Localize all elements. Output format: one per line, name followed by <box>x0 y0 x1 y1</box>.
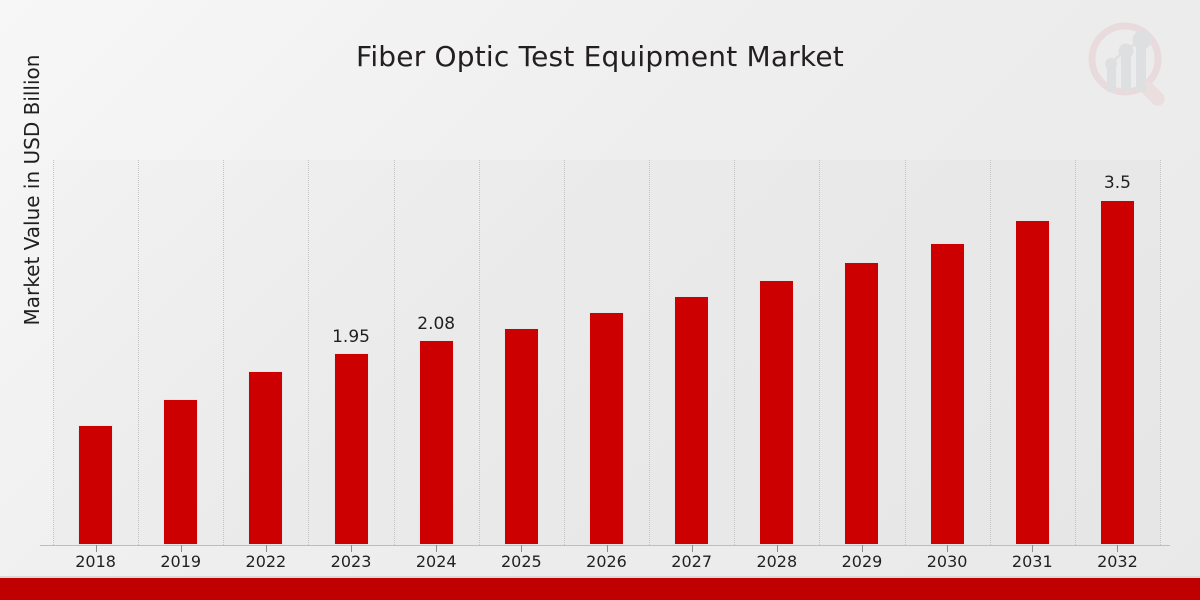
gridline <box>308 160 309 545</box>
x-tick-mark-2025 <box>521 545 522 552</box>
x-tick-mark-2018 <box>96 545 97 552</box>
x-tick-mark-2023 <box>351 545 352 552</box>
gridline <box>564 160 565 545</box>
x-tick-mark-2019 <box>181 545 182 552</box>
gridline <box>479 160 480 545</box>
bar-2031[interactable] <box>1015 220 1050 545</box>
gridline <box>819 160 820 545</box>
bar-2022[interactable] <box>248 371 283 545</box>
bar-2032[interactable] <box>1100 200 1135 546</box>
x-tick-label-2027: 2027 <box>647 552 737 571</box>
y-axis-title: Market Value in USD Billion <box>20 0 44 390</box>
gridline <box>53 160 54 545</box>
page-title: Fiber Optic Test Equipment Market <box>0 40 1200 73</box>
bar-2027[interactable] <box>674 296 709 545</box>
x-tick-mark-2026 <box>607 545 608 552</box>
x-tick-label-2026: 2026 <box>562 552 652 571</box>
bar-2026[interactable] <box>589 312 624 545</box>
bar-2028[interactable] <box>759 280 794 545</box>
x-tick-label-2028: 2028 <box>732 552 822 571</box>
x-tick-label-2025: 2025 <box>476 552 566 571</box>
x-tick-label-2024: 2024 <box>391 552 481 571</box>
x-tick-label-2019: 2019 <box>136 552 226 571</box>
plot-area <box>53 160 1160 545</box>
magnifier-bar-chart-logo-icon <box>1082 18 1178 110</box>
bar-2019[interactable] <box>163 399 198 545</box>
bar-2023[interactable] <box>334 353 369 546</box>
x-tick-label-2031: 2031 <box>987 552 1077 571</box>
gridline <box>394 160 395 545</box>
x-tick-label-2022: 2022 <box>221 552 311 571</box>
bar-value-label-2024: 2.08 <box>391 314 481 334</box>
gridline <box>138 160 139 545</box>
x-tick-label-2018: 2018 <box>51 552 141 571</box>
bar-2018[interactable] <box>78 425 113 545</box>
gridline <box>649 160 650 545</box>
x-tick-mark-2024 <box>436 545 437 552</box>
x-tick-mark-2028 <box>777 545 778 552</box>
bar-2024[interactable] <box>419 340 454 545</box>
gridline <box>990 160 991 545</box>
gridline <box>734 160 735 545</box>
bar-2029[interactable] <box>844 262 879 545</box>
x-tick-label-2029: 2029 <box>817 552 907 571</box>
x-tick-mark-2030 <box>947 545 948 552</box>
x-tick-mark-2029 <box>862 545 863 552</box>
x-axis-baseline <box>40 545 1170 546</box>
x-tick-mark-2031 <box>1032 545 1033 552</box>
gridline <box>1075 160 1076 545</box>
gridline <box>223 160 224 545</box>
x-tick-mark-2032 <box>1117 545 1118 552</box>
gridline <box>1160 160 1161 545</box>
x-tick-mark-2022 <box>266 545 267 552</box>
x-tick-label-2023: 2023 <box>306 552 396 571</box>
bar-2025[interactable] <box>504 328 539 545</box>
x-tick-mark-2027 <box>692 545 693 552</box>
x-tick-label-2032: 2032 <box>1072 552 1162 571</box>
bottom-accent-stripe <box>0 578 1200 600</box>
chart-page: Fiber Optic Test Equipment Market Market <box>0 0 1200 600</box>
bar-2030[interactable] <box>930 243 965 545</box>
bar-value-label-2023: 1.95 <box>306 327 396 347</box>
x-tick-label-2030: 2030 <box>902 552 992 571</box>
chart-header: Fiber Optic Test Equipment Market <box>0 0 1200 140</box>
bar-value-label-2032: 3.5 <box>1072 173 1162 193</box>
gridline <box>905 160 906 545</box>
